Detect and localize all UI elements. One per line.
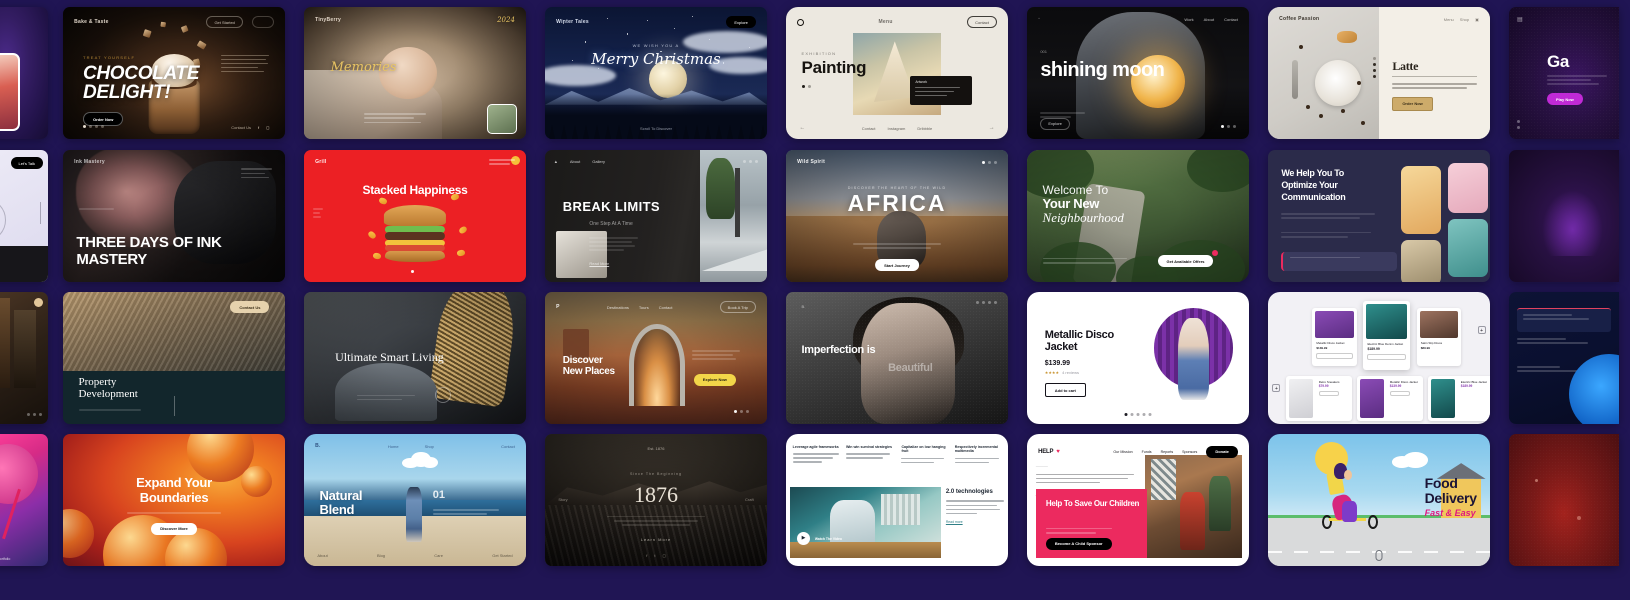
card-painting-gallery[interactable]: Artwork Menu Contact Exhibition Painting (786, 7, 1008, 139)
headline: BREAK LIMITS (563, 200, 660, 214)
product-card[interactable]: Retro Sneakers $79.99 (1286, 376, 1353, 421)
treeline (545, 105, 767, 139)
nav-links[interactable]: Work About Contact (1184, 17, 1238, 22)
card-metallic-disco-jacket[interactable]: Metallic Disco Jacket $139.99 ★★★★4 revi… (1027, 292, 1249, 424)
nav-center-label: Menu (878, 19, 892, 25)
product-title: Satin Slip Dress (1421, 341, 1457, 345)
site-logo: HELP (1038, 449, 1053, 455)
headline-line-2: Your New (1043, 197, 1124, 211)
footer-link[interactable]: Care (434, 553, 443, 558)
site-logo: ▲ (554, 159, 558, 164)
nav-item[interactable]: Home (388, 444, 399, 449)
nav-item[interactable]: Reports (1161, 450, 1174, 454)
photo-image (790, 487, 941, 558)
cta-button[interactable]: Order Now (83, 112, 123, 126)
artwork-note: Artwork (910, 76, 972, 105)
card-shining-moon[interactable]: ◦ Work About Contact 001 shining moon Ex… (1027, 7, 1249, 139)
nav-item[interactable]: Menu (1444, 17, 1454, 22)
headline-line-2: Development (79, 388, 138, 400)
card-expand-your-boundaries[interactable]: Expand Your Boundaries Discover More (63, 434, 285, 566)
card-creative-agency-purple[interactable]: Build in Wordpress Contact ≡ (0, 7, 48, 139)
card-optimize-communication[interactable]: We Help You To Optimize Your Communicati… (1268, 150, 1490, 282)
cta-link[interactable]: Learn More (545, 537, 767, 542)
cta-button[interactable]: Explore Now (694, 374, 736, 386)
headline-line-2: Blend (320, 502, 355, 517)
card-purple-gradient-dark[interactable] (1509, 150, 1619, 282)
cloud-illustration (402, 452, 438, 469)
right-label: Craft (745, 497, 754, 502)
add-icon[interactable]: + (1478, 326, 1486, 334)
column-title: Win win survival strategies (846, 445, 893, 449)
section-title: 2.0 technologies (946, 489, 1004, 495)
nav-item[interactable]: Tours (639, 305, 649, 310)
eyebrow: Discover The Heart Of The Wild (786, 186, 1008, 190)
section-link[interactable]: Read more (946, 520, 1004, 524)
nav-button[interactable]: Contact Us (230, 301, 269, 313)
product-price: $139.99 (1316, 346, 1352, 350)
headline-line-1: Welcome To (1043, 184, 1124, 197)
card-stacked-happiness[interactable]: Grill Stacked Happiness (304, 150, 526, 282)
cart-icon[interactable]: ▣ (1475, 17, 1479, 22)
card-shop-product-grid[interactable]: Metallic Disco Jacket $139.99 Electric B… (1268, 292, 1490, 424)
photo-card (1448, 219, 1488, 277)
headline-line-1: Discover (563, 355, 603, 366)
instagram-icon[interactable]: ◻ (662, 553, 665, 558)
photo-card (1448, 163, 1488, 213)
instagram-icon[interactable]: ◻ (266, 125, 269, 130)
eyebrow: Since The Beginning (545, 472, 767, 476)
footer-link[interactable]: Dribbble (917, 126, 932, 131)
nav-item[interactable]: Funds (1142, 450, 1152, 454)
product-card[interactable]: Electric Blue Denim Jacket $189.99 (1363, 301, 1410, 370)
decorative-glow (1569, 354, 1619, 424)
add-icon[interactable]: + (1272, 384, 1280, 392)
product-price: $189.99 (1461, 384, 1487, 388)
site-logo: Coffee Passion (1279, 16, 1319, 22)
footer-link[interactable]: Contact (862, 126, 876, 131)
headline-line-3: Neighbourhood (1043, 211, 1124, 225)
gallery-row-4[interactable]: Art Portfolio Expand Your Boundaries Dis… (0, 434, 1630, 566)
footer-link[interactable]: Blog (377, 553, 385, 558)
headline: THREE DAYS OF INK MASTERY (76, 235, 285, 269)
footer-cta[interactable]: Get Started (492, 553, 512, 558)
card-your-new-neighbourhood[interactable]: Welcome To Your New Neighbourhood Get Av… (1027, 150, 1249, 282)
headline: We Help You To Optimize Your Communicati… (1281, 168, 1379, 203)
card-ultimate-smart-living[interactable]: Ultimate Smart Living (304, 292, 526, 424)
nav-menu-button[interactable] (252, 16, 274, 28)
nav-item[interactable]: Work (1184, 17, 1193, 22)
card-food-delivery[interactable]: Food Delivery Fast & Easy (1268, 434, 1490, 566)
headline: Memories (331, 60, 397, 75)
card-dark-ui-panel[interactable] (1509, 292, 1619, 424)
card-africa-safari[interactable]: Wild Spirit Discover The Heart Of The Wi… (786, 150, 1008, 282)
headline-line-1: Expand Your (136, 475, 212, 490)
site-logo: TinyBerry (315, 17, 341, 23)
next-arrow-icon[interactable]: → (989, 125, 995, 131)
card-pink-art-portfolio[interactable]: Art Portfolio (0, 434, 48, 566)
card-imperfection-is-beautiful[interactable]: Imperfection is Beautiful B. (786, 292, 1008, 424)
headline: CHOCOLATE DELIGHT! (83, 64, 185, 104)
product-price: $139.99 (1390, 384, 1418, 388)
nav-item[interactable]: Shop (425, 444, 434, 449)
card-dark-interior-shelf[interactable] (0, 292, 48, 424)
card-coffee-latte[interactable]: Coffee Passion Menu Shop ▣ Latte Order N… (1268, 7, 1490, 139)
archway-illustration (629, 324, 685, 406)
site-logo: Est. 1876 (545, 446, 767, 451)
card-discover-new-places[interactable]: P Destinations Tours Contact Book A Trip… (545, 292, 767, 424)
card-three-days-of-ink[interactable]: Ink Mastery THREE DAYS OF INK MASTERY (63, 150, 285, 282)
photo-image (1145, 455, 1243, 558)
product-price: $189.99 (1367, 347, 1406, 351)
nav-button[interactable]: Get Started (206, 16, 242, 28)
headline: AFRICA (786, 192, 1008, 216)
photo-card (1401, 166, 1441, 235)
footer-button[interactable]: Explore (1040, 118, 1070, 130)
play-button-icon[interactable] (435, 387, 451, 403)
headline-line-2: Beautiful (888, 363, 932, 374)
headline: Painting (802, 59, 867, 77)
nav-button[interactable]: Contact (967, 16, 997, 28)
nav-item[interactable]: Contact (659, 305, 673, 310)
cta-button[interactable]: Play Now (1547, 93, 1583, 105)
thumbnail-preview[interactable] (487, 104, 517, 134)
headline: 1876 (545, 482, 767, 508)
burger-illustration (384, 205, 446, 263)
tagline: Fast & Easy (1425, 508, 1477, 518)
delivery-rider-illustration (1321, 468, 1379, 529)
site-logo: P (556, 304, 560, 310)
cta-button[interactable]: Discover More (151, 523, 197, 535)
subheadline: One Step At A Time (589, 221, 632, 227)
card-red-space[interactable] (1509, 434, 1619, 566)
card-light-minimal-portfolio[interactable]: Home Work About Let's Talk (0, 150, 48, 282)
card-help-our-children[interactable]: HELP ♥ Our Mission Funds Reports Sponsor… (1027, 434, 1249, 566)
headline: Stacked Happiness (304, 184, 526, 196)
add-to-cart-button[interactable]: Add to cart (1045, 383, 1086, 397)
card-property-development[interactable]: Contact Us Property Development (63, 292, 285, 424)
product-price: $79.99 (1319, 384, 1340, 388)
site-logo: Winter Tales (556, 19, 589, 25)
nav-item[interactable]: Contact (1224, 17, 1238, 22)
card-newborn-memories[interactable]: TinyBerry 2024 Memories (304, 7, 526, 139)
product-card[interactable]: Satin Slip Dress $89.99 (1417, 308, 1461, 366)
gallery-row-2[interactable]: Home Work About Let's Talk Ink Mastery (0, 150, 1630, 282)
site-logo: Bake & Taste (74, 19, 109, 25)
template-gallery[interactable]: Build in Wordpress Contact ≡ (0, 0, 1630, 600)
headline: shining moon (1040, 60, 1164, 80)
product-card[interactable]: Metallic Disco Jacket $139.99 (1357, 376, 1424, 421)
price: $139.99 (1045, 360, 1138, 367)
donate-button[interactable]: Donate (1206, 446, 1238, 458)
heart-icon: ♥ (1056, 449, 1060, 455)
footer-link[interactable]: About (317, 553, 327, 558)
decorative-circle (0, 198, 6, 242)
card-technologies-2-0[interactable]: Leverage agile frameworks Win win surviv… (786, 434, 1008, 566)
footer-link[interactable]: Contact Us (231, 125, 251, 130)
site-nav[interactable]: Bake & Taste Get Started (74, 16, 274, 28)
gallery-row-1[interactable]: Build in Wordpress Contact ≡ (0, 7, 1630, 139)
nav-item[interactable]: Destinations (607, 305, 629, 310)
column-title: Capitalize on low hanging fruit (901, 445, 948, 454)
nav-button[interactable]: Let's Talk (11, 157, 43, 169)
headline-line-2: Boundaries (140, 490, 209, 505)
badge-icon[interactable] (34, 298, 43, 307)
cta-button[interactable]: Start Journey (875, 259, 919, 271)
scroll-indicator-icon[interactable] (1376, 550, 1383, 561)
phone-mockup (0, 53, 20, 131)
column-title: Respectively incremental multimedia (955, 445, 1002, 454)
footer-band (0, 246, 48, 282)
left-label: Story (558, 497, 567, 502)
headline-line-1: Property (79, 376, 138, 388)
panel-cta-button[interactable]: Become A Child Sponsor (1046, 538, 1112, 550)
nav-button[interactable]: Contact (501, 444, 515, 449)
card-chocolate-delight[interactable]: Bake & Taste Get Started Treat Yourself … (63, 7, 285, 139)
card-break-limits[interactable]: ▲ About Gallery BREAK LIMITS One Step At… (545, 150, 767, 282)
photo-card (1401, 240, 1441, 282)
cta-button[interactable]: Order Now (1392, 97, 1432, 111)
card-natural-blend[interactable]: B. Home Shop Contact Natural Blend 01 Ab… (304, 434, 526, 566)
headline-line-2: Jacket (1045, 341, 1077, 353)
headline-line-2: Delivery (1425, 490, 1477, 506)
nav-item[interactable]: About (570, 159, 580, 164)
product-card[interactable]: Electric Blue Jacket $189.99 (1428, 376, 1490, 421)
panel-title: Help To Save Our Children (1046, 499, 1139, 508)
menu-icon[interactable]: ▤ (1517, 16, 1523, 23)
headline-line-1: Food (1425, 475, 1458, 491)
note-card (1281, 252, 1396, 272)
footer-note: Scroll To Discover (545, 126, 767, 131)
nav-item[interactable]: Our Mission (1113, 450, 1132, 454)
nav-item[interactable]: Sponsors (1182, 450, 1197, 454)
cta-link[interactable]: Read More (589, 261, 609, 266)
site-logo: B. (802, 304, 806, 309)
prev-arrow-icon[interactable]: ← (799, 125, 805, 131)
nav-item[interactable]: Shop (1460, 17, 1469, 22)
site-logo: B. (315, 443, 321, 449)
nav-item[interactable]: About (1204, 17, 1214, 22)
nav-item[interactable]: Gallery (592, 159, 605, 164)
headline-line-2: New Places (563, 366, 615, 377)
headline: Merry Christmas (545, 50, 767, 68)
product-title: Electric Blue Denim Jacket (1367, 342, 1406, 346)
headline: Ga (1547, 53, 1569, 71)
footer-link[interactable]: Instagram (888, 126, 906, 131)
video-label: Watch The Video (815, 537, 842, 541)
site-logo: Grill (315, 159, 327, 165)
eyebrow: Treat Yourself (83, 55, 185, 60)
site-logo: Wild Spirit (797, 159, 825, 165)
site-logo: ◦ (1038, 16, 1040, 22)
play-button-icon[interactable]: ▶ (797, 532, 810, 545)
card-gaming-dark[interactable]: ▤ Ga Play Now (1509, 7, 1619, 139)
site-logo: Ink Mastery (74, 159, 105, 165)
product-title: Metallic Disco Jacket (1316, 341, 1352, 345)
nav-button[interactable]: Explore (726, 16, 756, 28)
headline-line-1: Metallic Disco (1045, 329, 1114, 341)
column-title: Leverage agile frameworks (793, 445, 840, 449)
headline: Latte (1392, 60, 1476, 72)
headline: Ultimate Smart Living (335, 350, 444, 365)
logo-badge: Art Portfolio (0, 557, 10, 561)
corner-label: 2024 (497, 16, 515, 24)
twitter-icon[interactable]: t (654, 553, 655, 558)
facebook-icon[interactable]: f (258, 125, 259, 130)
notification-badge (1212, 250, 1218, 256)
card-merry-christmas[interactable]: Winter Tales Explore We Wish You A Merry… (545, 7, 767, 139)
decorative-glow (1542, 190, 1603, 256)
eyebrow: We Wish You A (545, 43, 767, 48)
facebook-icon[interactable]: f (646, 553, 647, 558)
logo-icon (797, 19, 804, 26)
highlight-panel: Help To Save Our Children Become A Child… (1036, 489, 1147, 558)
nav-button[interactable]: Book A Trip (720, 301, 756, 313)
side-label: 001 (1040, 49, 1047, 54)
eyebrow: Exhibition (802, 51, 867, 56)
headline-line-1: Imperfection is (802, 345, 876, 356)
product-price: $89.99 (1421, 346, 1457, 350)
cta-button[interactable]: Get Available Offers (1158, 255, 1214, 267)
rating: ★★★★4 reviews (1045, 370, 1138, 375)
card-heritage-1876[interactable]: Est. 1876 Since The Beginning 1876 Learn… (545, 434, 767, 566)
step-number: 01 (433, 489, 445, 501)
product-card[interactable]: Metallic Disco Jacket $139.99 (1312, 308, 1356, 366)
person-illustration (406, 487, 422, 542)
gallery-row-3[interactable]: Contact Us Property Development Ultimate… (0, 292, 1630, 424)
